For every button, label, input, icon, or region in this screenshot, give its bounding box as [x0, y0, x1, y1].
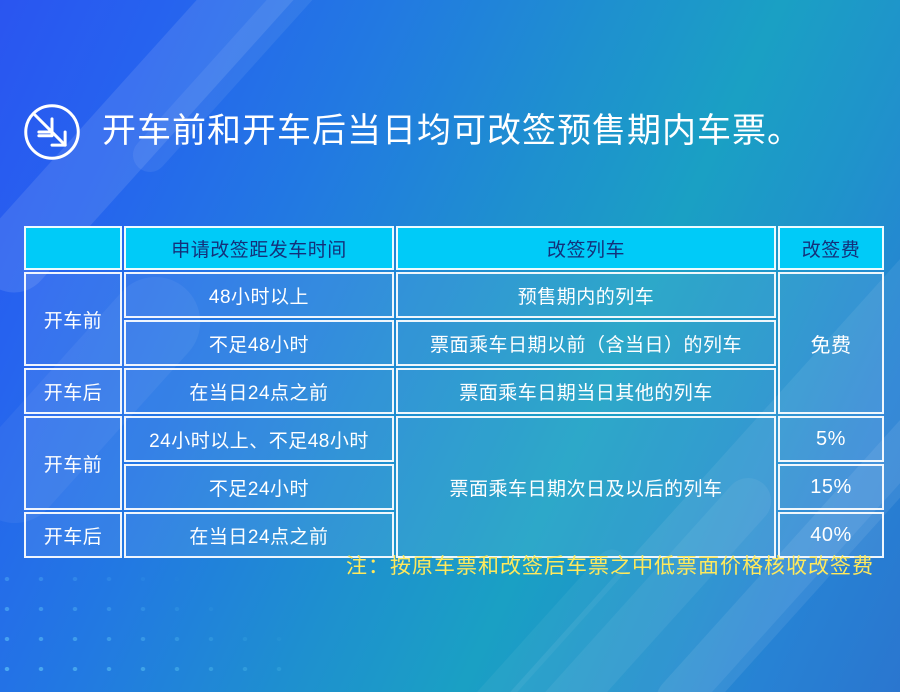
cell-target-train: 票面乘车日期以前（含当日）的列车 — [396, 320, 776, 366]
exchange-circle-icon — [22, 102, 82, 162]
refund-rule-table: 申请改签距发车时间 改签列车 改签费 开车前 48小时以上 预售期内的列车 免费… — [22, 224, 886, 560]
column-header-fee: 改签费 — [778, 226, 884, 270]
table-header: 申请改签距发车时间 改签列车 改签费 — [24, 226, 884, 270]
cell-departure-phase: 开车前 — [24, 416, 122, 510]
table-row: 开车后 在当日24点之前 票面乘车日期当日其他的列车 — [24, 368, 884, 414]
cell-apply-time: 48小时以上 — [124, 272, 394, 318]
cell-apply-time: 24小时以上、不足48小时 — [124, 416, 394, 462]
cell-departure-phase: 开车前 — [24, 272, 122, 366]
cell-target-train: 票面乘车日期次日及以后的列车 — [396, 416, 776, 558]
cell-apply-time: 在当日24点之前 — [124, 368, 394, 414]
cell-target-train: 预售期内的列车 — [396, 272, 776, 318]
cell-fee: 5% — [778, 416, 884, 462]
table-row: 开车前 24小时以上、不足48小时 票面乘车日期次日及以后的列车 5% — [24, 416, 884, 462]
footnote: 注：按原车票和改签后车票之中低票面价格核收改签费 — [346, 550, 874, 580]
cell-apply-time: 不足24小时 — [124, 464, 394, 510]
column-header-apply-time: 申请改签距发车时间 — [124, 226, 394, 270]
table-row: 不足48小时 票面乘车日期以前（含当日）的列车 — [24, 320, 884, 366]
column-header-blank — [24, 226, 122, 270]
table-body: 开车前 48小时以上 预售期内的列车 免费 不足48小时 票面乘车日期以前（含当… — [24, 272, 884, 558]
cell-fee: 15% — [778, 464, 884, 510]
page-header: 开车前和开车后当日均可改签预售期内车票。 — [22, 102, 802, 162]
table-row: 开车前 48小时以上 预售期内的列车 免费 — [24, 272, 884, 318]
table-header-row: 申请改签距发车时间 改签列车 改签费 — [24, 226, 884, 270]
cell-departure-phase: 开车后 — [24, 512, 122, 558]
cell-fee: 免费 — [778, 272, 884, 414]
poster-root: 开车前和开车后当日均可改签预售期内车票。 申请改签距发车时间 改签列车 改签费 … — [0, 0, 900, 692]
column-header-target-train: 改签列车 — [396, 226, 776, 270]
page-title: 开车前和开车后当日均可改签预售期内车票。 — [102, 113, 802, 150]
cell-target-train: 票面乘车日期当日其他的列车 — [396, 368, 776, 414]
dot-pattern-decoration — [0, 564, 290, 692]
cell-departure-phase: 开车后 — [24, 368, 122, 414]
cell-apply-time: 不足48小时 — [124, 320, 394, 366]
